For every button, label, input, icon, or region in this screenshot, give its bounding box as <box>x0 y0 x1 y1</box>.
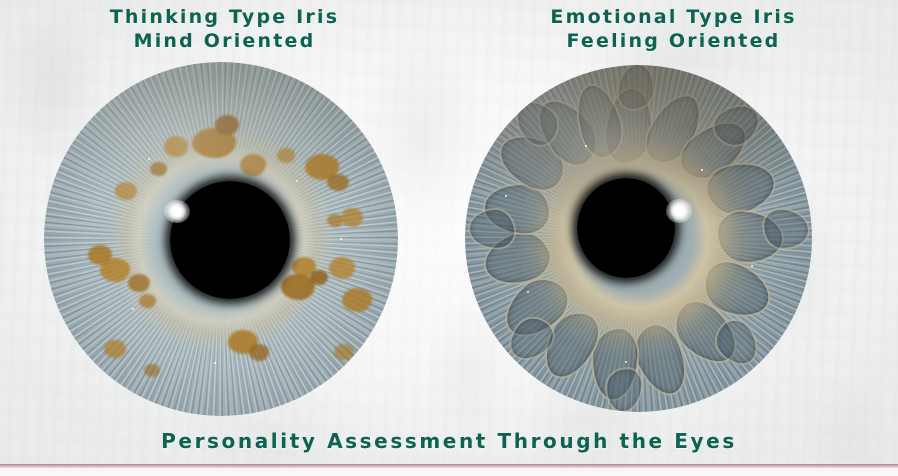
bottom-strip <box>0 468 898 476</box>
sparkle <box>625 361 627 363</box>
poster-caption: Personality Assessment Through the Eyes <box>0 429 898 453</box>
sparkle <box>148 158 150 160</box>
heading-thinking-type: Thinking Type Iris Mind Oriented <box>0 5 449 53</box>
sparkle <box>296 180 298 182</box>
heading-thinking-type-line1: Thinking Type Iris <box>110 6 339 28</box>
pupil-left <box>170 181 290 299</box>
sparkle <box>585 145 587 147</box>
heading-emotional-type-line2: Feeling Oriented <box>449 29 898 53</box>
sparkle <box>132 308 134 310</box>
iris-image-emotional-type <box>465 65 812 412</box>
heading-thinking-type-line2: Mind Oriented <box>0 29 449 53</box>
sparkle <box>701 169 703 171</box>
pupil-right <box>577 178 675 278</box>
iris-image-thinking-type <box>44 62 398 416</box>
heading-emotional-type-line1: Emotional Type Iris <box>550 6 796 28</box>
specular-highlight-icon <box>164 200 190 223</box>
sparkle <box>214 362 216 364</box>
heading-emotional-type: Emotional Type Iris Feeling Oriented <box>449 5 898 53</box>
iridology-poster: Thinking Type Iris Mind Oriented Emotion… <box>0 0 898 476</box>
sparkle <box>505 195 507 197</box>
sparkle <box>751 265 753 267</box>
sparkle <box>340 238 342 240</box>
specular-highlight-icon <box>666 199 692 223</box>
sparkle <box>527 291 529 293</box>
